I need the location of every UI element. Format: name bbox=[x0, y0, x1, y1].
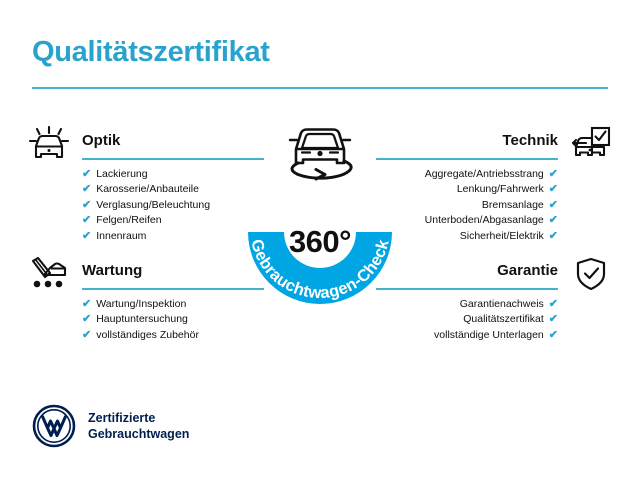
list-item-label: Bremsanlage bbox=[482, 198, 544, 213]
list-item-label: vollständige Unterlagen bbox=[434, 328, 544, 343]
check-icon: ✔ bbox=[82, 198, 91, 213]
list-item-label: Lackierung bbox=[96, 167, 147, 182]
list-item-label: Aggregate/Antriebsstrang bbox=[425, 167, 544, 182]
vw-roundel-logo bbox=[32, 404, 76, 448]
check-icon: ✔ bbox=[549, 297, 558, 312]
check-icon: ✔ bbox=[549, 312, 558, 327]
list-item-label: Karosserie/Anbauteile bbox=[96, 182, 199, 197]
list-item: vollständige Unterlagen✔ bbox=[376, 328, 558, 343]
list-item-label: Qualitätszertifikat bbox=[463, 312, 544, 327]
check-icon: ✔ bbox=[82, 182, 91, 197]
list-item-label: Unterboden/Abgasanlage bbox=[425, 213, 544, 228]
check-icon: ✔ bbox=[82, 328, 91, 343]
check-icon: ✔ bbox=[82, 213, 91, 228]
check-icon: ✔ bbox=[549, 198, 558, 213]
footer-brand: Zertifizierte Gebrauchtwagen bbox=[32, 404, 189, 448]
check-icon: ✔ bbox=[82, 167, 91, 182]
check-icon: ✔ bbox=[549, 229, 558, 244]
footer-line-1: Zertifizierte bbox=[88, 410, 189, 426]
list-item-label: Sicherheit/Elektrik bbox=[460, 229, 544, 244]
list-item-label: Verglasung/Beleuchtung bbox=[96, 198, 210, 213]
footer-line-2: Gebrauchtwagen bbox=[88, 426, 189, 442]
list-item-label: Garantienachweis bbox=[460, 297, 544, 312]
check-icon: ✔ bbox=[549, 167, 558, 182]
check-icon: ✔ bbox=[82, 297, 91, 312]
quality-certificate-page: Qualitätszertifikat Optik ✔Lacki bbox=[0, 0, 640, 480]
check-icon: ✔ bbox=[82, 312, 91, 327]
page-title: Qualitätszertifikat bbox=[32, 36, 270, 69]
list-item: ✔vollständiges Zubehör bbox=[82, 328, 264, 343]
check-icon: ✔ bbox=[549, 182, 558, 197]
car-rotate-icon bbox=[276, 122, 364, 182]
list-item-label: vollständiges Zubehör bbox=[96, 328, 199, 343]
list-item-label: Innenraum bbox=[96, 229, 146, 244]
check-icon: ✔ bbox=[549, 328, 558, 343]
check-icon: ✔ bbox=[82, 229, 91, 244]
list-item-label: Felgen/Reifen bbox=[96, 213, 161, 228]
badge-360-gebrauchtwagen-check: Gebrauchtwagen-Check 360° bbox=[228, 122, 412, 308]
footer-text: Zertifizierte Gebrauchtwagen bbox=[88, 410, 189, 442]
badge-center-label: 360° bbox=[228, 224, 412, 260]
list-item: ✔Hauptuntersuchung bbox=[82, 312, 264, 327]
check-icon: ✔ bbox=[549, 213, 558, 228]
list-item: Qualitätszertifikat✔ bbox=[376, 312, 558, 327]
title-divider bbox=[32, 87, 608, 89]
list-item-label: Wartung/Inspektion bbox=[96, 297, 186, 312]
list-item-label: Lenkung/Fahrwerk bbox=[457, 182, 544, 197]
list-item-label: Hauptuntersuchung bbox=[96, 312, 188, 327]
